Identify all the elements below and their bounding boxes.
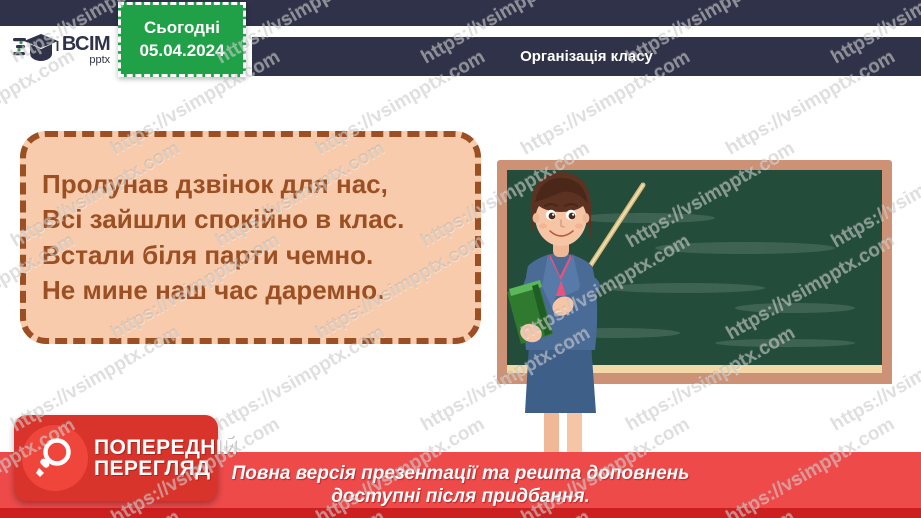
teacher-skirt (525, 343, 596, 413)
banner-line-2: доступні після придбання. (331, 486, 590, 508)
today-date-badge: Сьогодні 05.04.2024 (118, 2, 246, 77)
logo-subtitle: pptx (62, 55, 110, 65)
preview-label-line-1: ПОПЕРЕДНІЙ (94, 437, 238, 458)
banner-line-1: Повна версія презентації та решта доповн… (232, 463, 690, 485)
brand-logo: ВСІМ pptx (0, 26, 123, 74)
preview-label-line-2: ПЕРЕГЛЯД (94, 458, 238, 479)
today-date: 05.04.2024 (139, 41, 224, 61)
page-title: Організація класу (520, 48, 653, 65)
logo-name: ВСІМ (62, 35, 110, 54)
banner-bottom-strip (0, 508, 921, 518)
poem-card: Пролунав дзвінок для нас, Всі зайшли спо… (20, 131, 481, 344)
magnifier-icon (22, 425, 88, 491)
poem-line: Не мине наш час даремно. (42, 273, 384, 308)
poem-line: Пролунав дзвінок для нас, (42, 167, 388, 202)
poem-line: Всі зайшли спокійно в клас. (42, 202, 404, 237)
graduation-cap-icon (13, 31, 59, 70)
preview-badge: ПОПЕРЕДНІЙ ПЕРЕГЛЯД (14, 415, 218, 501)
slide-title-bar: Організація класу (252, 37, 921, 76)
poem-line: Встали біля парти чемно. (42, 238, 373, 273)
presentation-slide: ВСІМ pptx Сьогодні 05.04.2024 Організаці… (0, 0, 921, 518)
today-label: Сьогодні (144, 18, 220, 38)
